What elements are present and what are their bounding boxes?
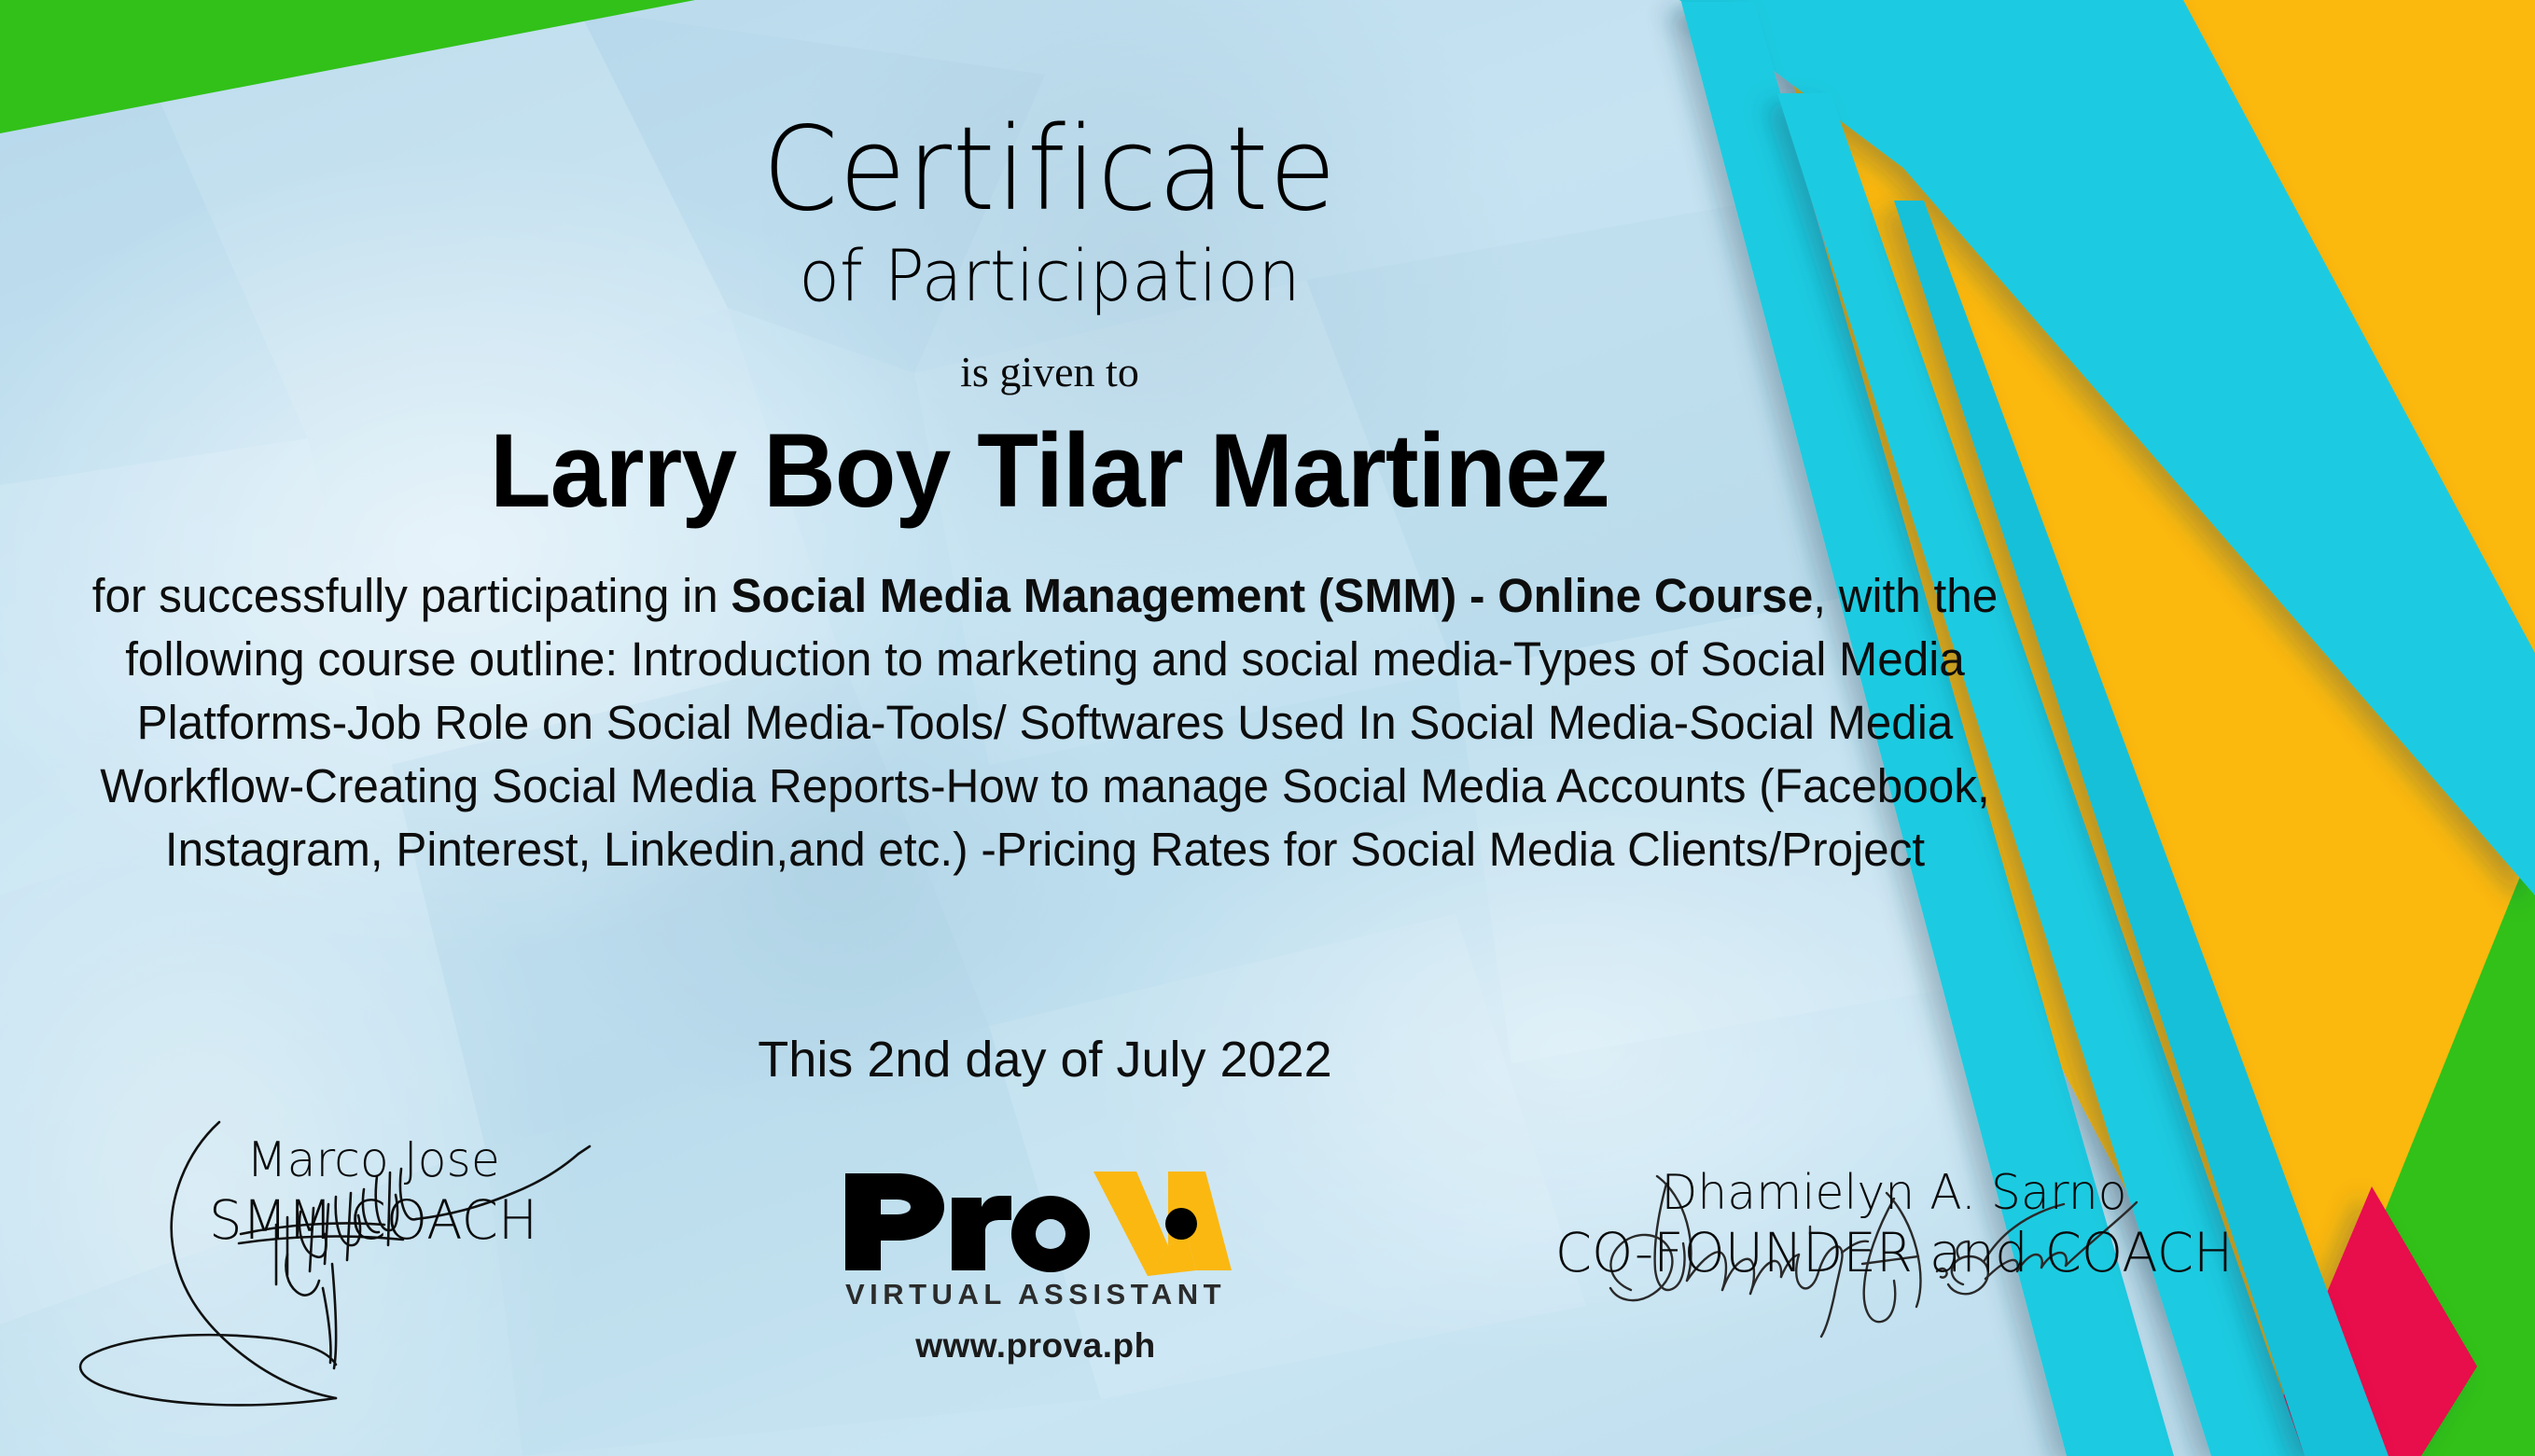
prova-logo-icon (840, 1166, 1232, 1276)
citation-lead: for successfully participating in (92, 569, 731, 622)
signatory-role-left: SMM COACH (92, 1191, 653, 1251)
logo-website: www.prova.ph (774, 1326, 1297, 1366)
prova-logo-block: VIRTUAL ASSISTANT www.prova.ph (774, 1166, 1297, 1366)
signatory-name-left: Marco Jose (92, 1133, 653, 1187)
signature-block-right: Dhamielyn A. Sarno CO-FOUNDER and COACH (1493, 1166, 2295, 1283)
signatory-name-right: Dhamielyn A. Sarno (1505, 1166, 2283, 1220)
certificate-canvas: Certificate of Participation is given to… (0, 0, 2535, 1456)
certificate-title: Certificate (63, 112, 2037, 228)
title-block: Certificate of Participation (0, 112, 2099, 316)
given-to-label: is given to (0, 347, 2099, 396)
signatory-role-right: CO-FOUNDER and COACH (1505, 1224, 2283, 1283)
date-line: This 2nd day of July 2022 (56, 1031, 2034, 1089)
course-name-part1: Social Media Management (SMM) - (731, 569, 1484, 622)
recipient-name: Larry Boy Tilar Martinez (42, 410, 2057, 531)
certificate-content: Certificate of Participation is given to… (0, 0, 2286, 1456)
citation-paragraph: for successfully participating in Social… (86, 564, 2004, 881)
course-name-part2: Online Course (1497, 569, 1813, 622)
signature-block-left: Marco Jose SMM COACH (84, 1133, 662, 1251)
certificate-subtitle: of Participation (63, 235, 2037, 316)
logo-tagline: VIRTUAL ASSISTANT (774, 1278, 1297, 1311)
